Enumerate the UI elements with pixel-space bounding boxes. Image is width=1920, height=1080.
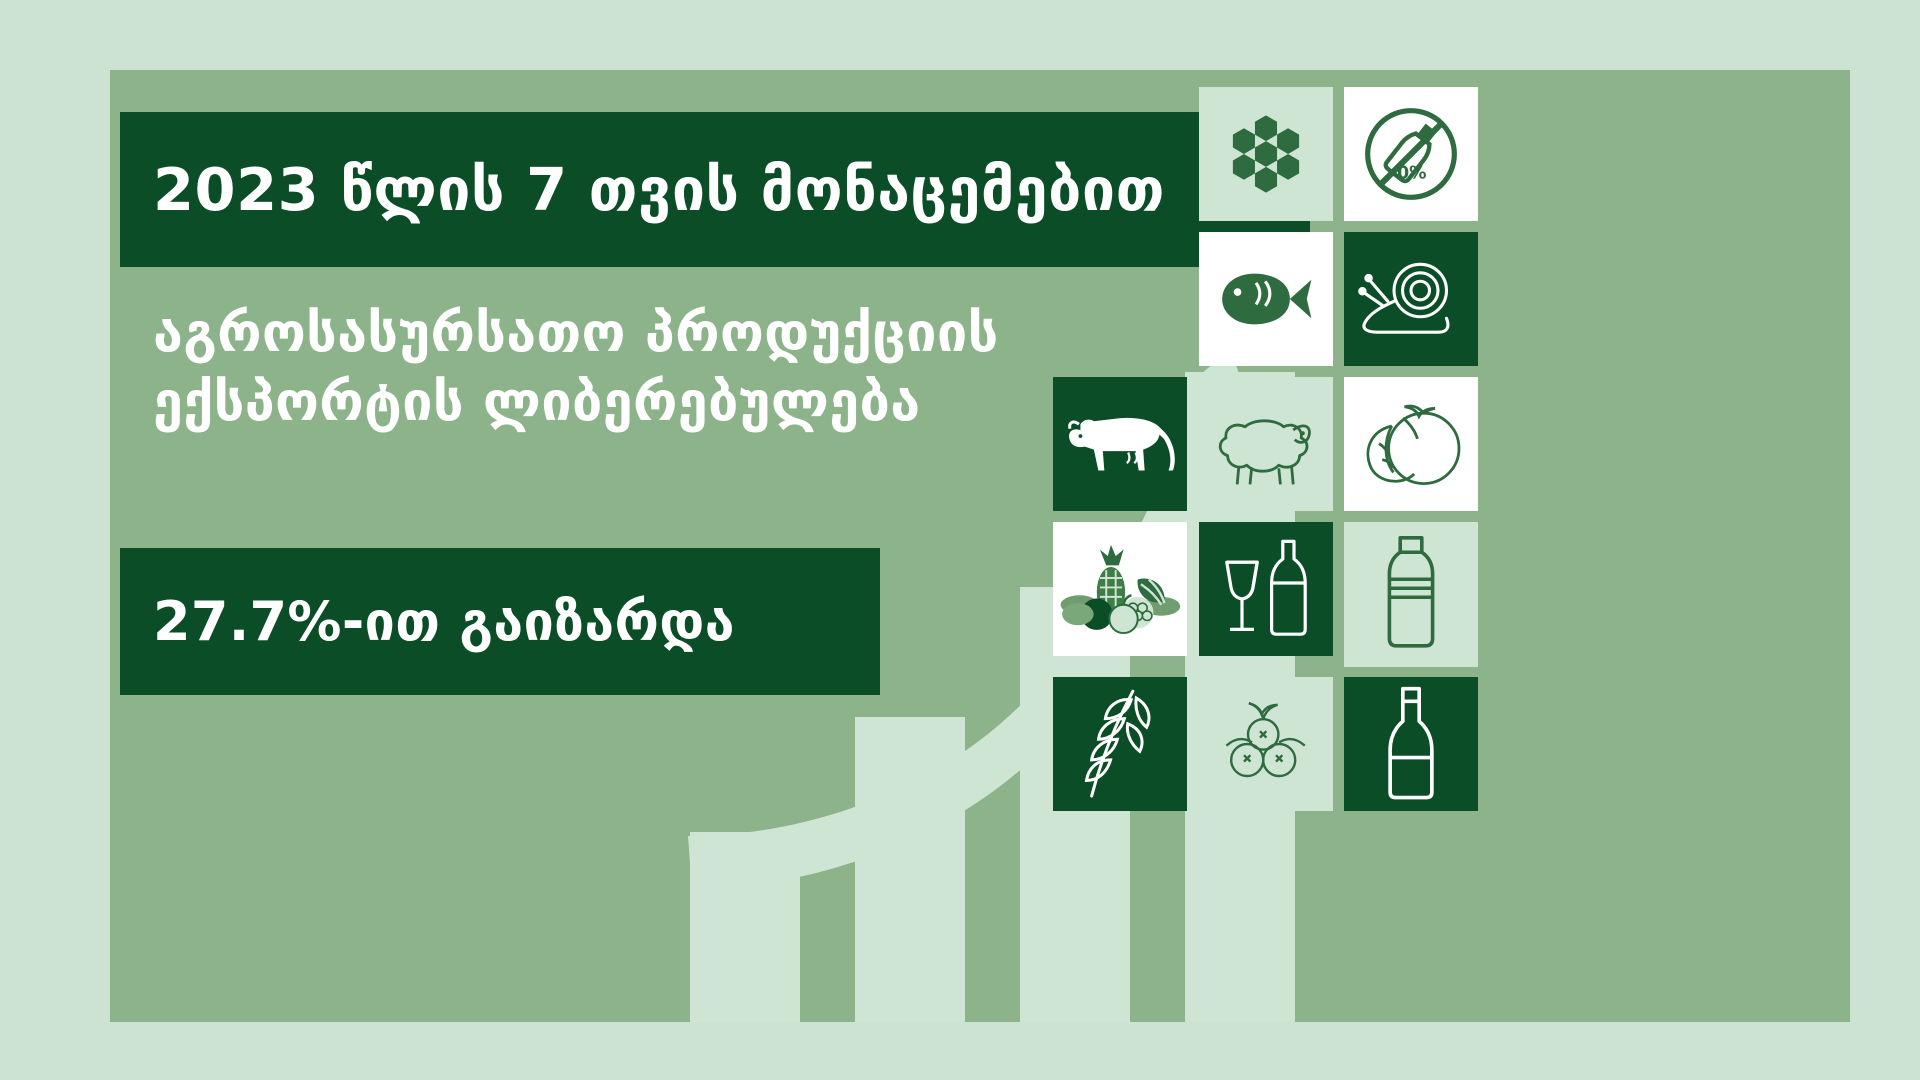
no-alcohol-icon: 0%	[1359, 102, 1463, 206]
main-panel: 2023 წლის 7 თვის მონაცემებით აგროსასურსა…	[110, 70, 1850, 1022]
subtitle-line-1: აგროსასურსათო პროდუქციის	[153, 298, 1273, 367]
wine-icon	[1213, 535, 1319, 643]
fruits-vegetables-icon	[1059, 541, 1181, 637]
tile-cow	[1053, 377, 1187, 511]
sheep-icon	[1210, 398, 1322, 490]
title-band: 2023 წლის 7 თვის მონაცემებით	[120, 112, 1310, 267]
tile-wine	[1199, 522, 1333, 656]
percentage-band: 27.7%-ით გაიზარდა	[120, 548, 880, 695]
tile-berries	[1199, 677, 1333, 811]
tile-fruits-vegetables	[1053, 522, 1187, 656]
no-alcohol-badge-text: 0%	[1397, 163, 1426, 183]
herb-branch-icon	[1072, 686, 1168, 802]
tile-no-alcohol: 0%	[1344, 87, 1478, 221]
berries-icon	[1212, 696, 1320, 792]
tile-tomato-melon	[1344, 377, 1478, 511]
tile-sheep	[1199, 377, 1333, 511]
tomato-melon-icon	[1355, 394, 1467, 494]
tile-herb-branch	[1053, 677, 1187, 811]
cow-icon	[1064, 404, 1176, 484]
infographic-canvas: 2023 წლის 7 თვის მონაცემებით აგროსასურსა…	[0, 0, 1920, 1080]
tile-fish	[1199, 232, 1333, 366]
tile-snail	[1344, 232, 1478, 366]
tile-honeycomb	[1199, 87, 1333, 221]
tile-glass-bottle	[1344, 677, 1478, 811]
title-text: 2023 წლის 7 თვის მონაცემებით	[120, 160, 1165, 219]
honeycomb-icon	[1220, 108, 1312, 200]
percentage-text: 27.7%-ით გაიზარდა	[120, 595, 735, 649]
glass-bottle-icon	[1379, 685, 1443, 803]
water-bottle-icon	[1375, 534, 1447, 656]
tile-water-bottle	[1344, 522, 1478, 667]
snail-icon	[1357, 256, 1465, 342]
fish-icon	[1216, 261, 1316, 337]
